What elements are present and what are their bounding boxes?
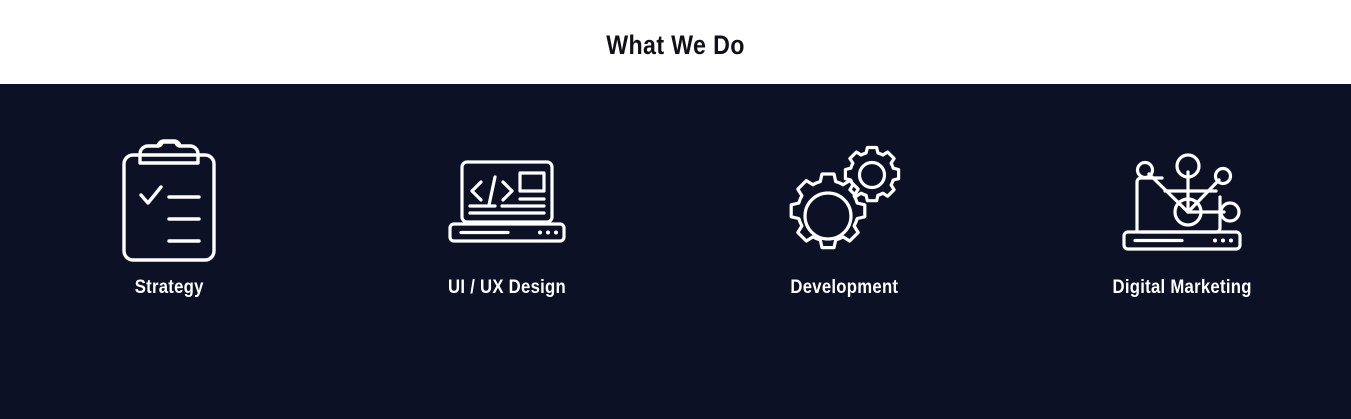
laptop-network-icon — [1117, 146, 1247, 258]
what-we-do-section: What We Do — [0, 0, 1351, 419]
service-card-ui-ux-design[interactable]: UI / UX Design — [338, 146, 676, 297]
laptop-code-icon — [442, 146, 572, 258]
service-label-strategy: Strategy — [134, 278, 203, 297]
service-card-development[interactable]: Development — [676, 146, 1014, 297]
section-header: What We Do — [0, 0, 1351, 84]
service-card-digital-marketing[interactable]: Digital Marketing — [1013, 146, 1351, 297]
services-grid: Strategy — [0, 84, 1351, 297]
services-band: Strategy — [0, 84, 1351, 419]
service-label-development: Development — [790, 278, 898, 297]
page-title: What We Do — [606, 32, 744, 59]
service-label-digital-marketing: Digital Marketing — [1113, 278, 1252, 297]
clipboard-checklist-icon — [104, 146, 234, 258]
gears-icon — [779, 146, 909, 258]
service-card-strategy[interactable]: Strategy — [0, 146, 338, 297]
service-label-ui-ux-design: UI / UX Design — [448, 278, 566, 297]
